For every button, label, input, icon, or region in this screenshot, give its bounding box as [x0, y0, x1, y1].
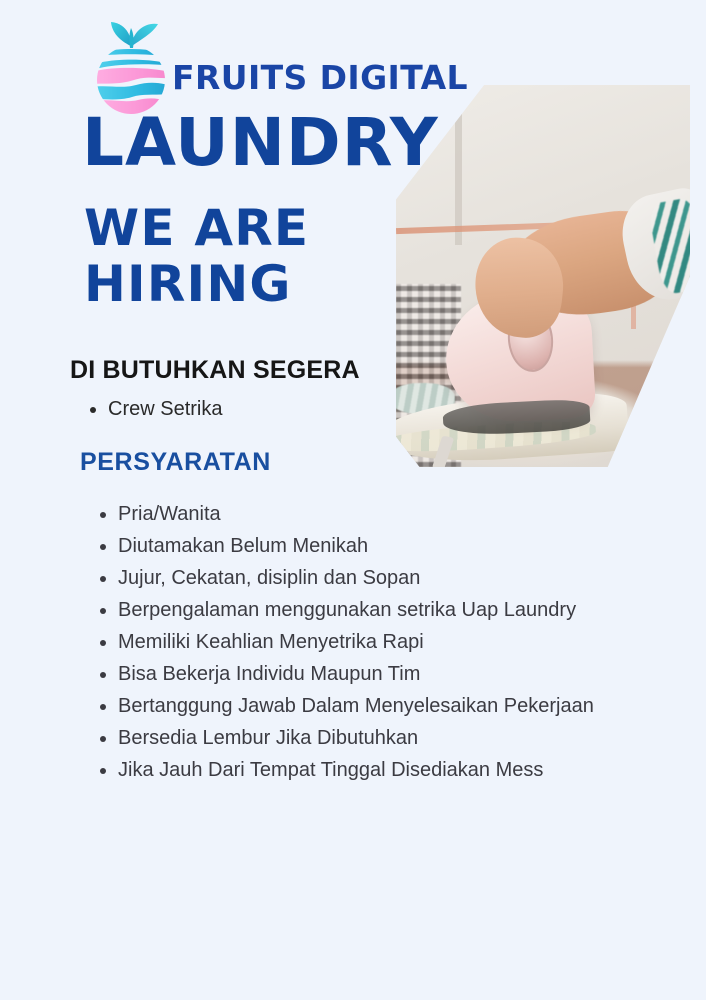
poster-canvas: FRUITS DIGITAL LAUNDRY WE ARE HIRING DI …: [0, 0, 706, 1000]
ironing-photo: [396, 85, 690, 467]
needed-heading: DI BUTUHKAN SEGERA: [70, 356, 360, 385]
list-item: Bersedia Lembur Jika Dibutuhkan: [118, 722, 656, 754]
needed-positions-list: Crew Setrika: [86, 396, 222, 422]
list-item: Bertanggung Jawab Dalam Menyelesaikan Pe…: [118, 690, 656, 722]
list-item: Jujur, Cekatan, disiplin dan Sopan: [118, 562, 656, 594]
list-item: Bisa Bekerja Individu Maupun Tim: [118, 658, 656, 690]
list-item: Pria/Wanita: [118, 498, 656, 530]
list-item: Jika Jauh Dari Tempat Tinggal Disediakan…: [118, 754, 656, 786]
photo-wall-line: [455, 85, 462, 245]
list-item: Crew Setrika: [108, 396, 222, 422]
brand-name: FRUITS DIGITAL: [172, 58, 468, 97]
requirements-list: Pria/Wanita Diutamakan Belum Menikah Juj…: [92, 498, 656, 786]
requirements-heading: PERSYARATAN: [80, 448, 271, 477]
list-item: Berpengalaman menggunakan setrika Uap La…: [118, 594, 656, 626]
ironing-photo-image: [396, 85, 690, 467]
hiring-headline: WE ARE HIRING: [84, 200, 309, 312]
hiring-line-2: HIRING: [84, 256, 309, 312]
list-item: Diutamakan Belum Menikah: [118, 530, 656, 562]
page-title: LAUNDRY: [82, 108, 439, 178]
hiring-line-1: WE ARE: [84, 200, 309, 256]
list-item: Memiliki Keahlian Menyetrika Rapi: [118, 626, 656, 658]
fruit-stripes-logo-icon: [78, 12, 184, 118]
